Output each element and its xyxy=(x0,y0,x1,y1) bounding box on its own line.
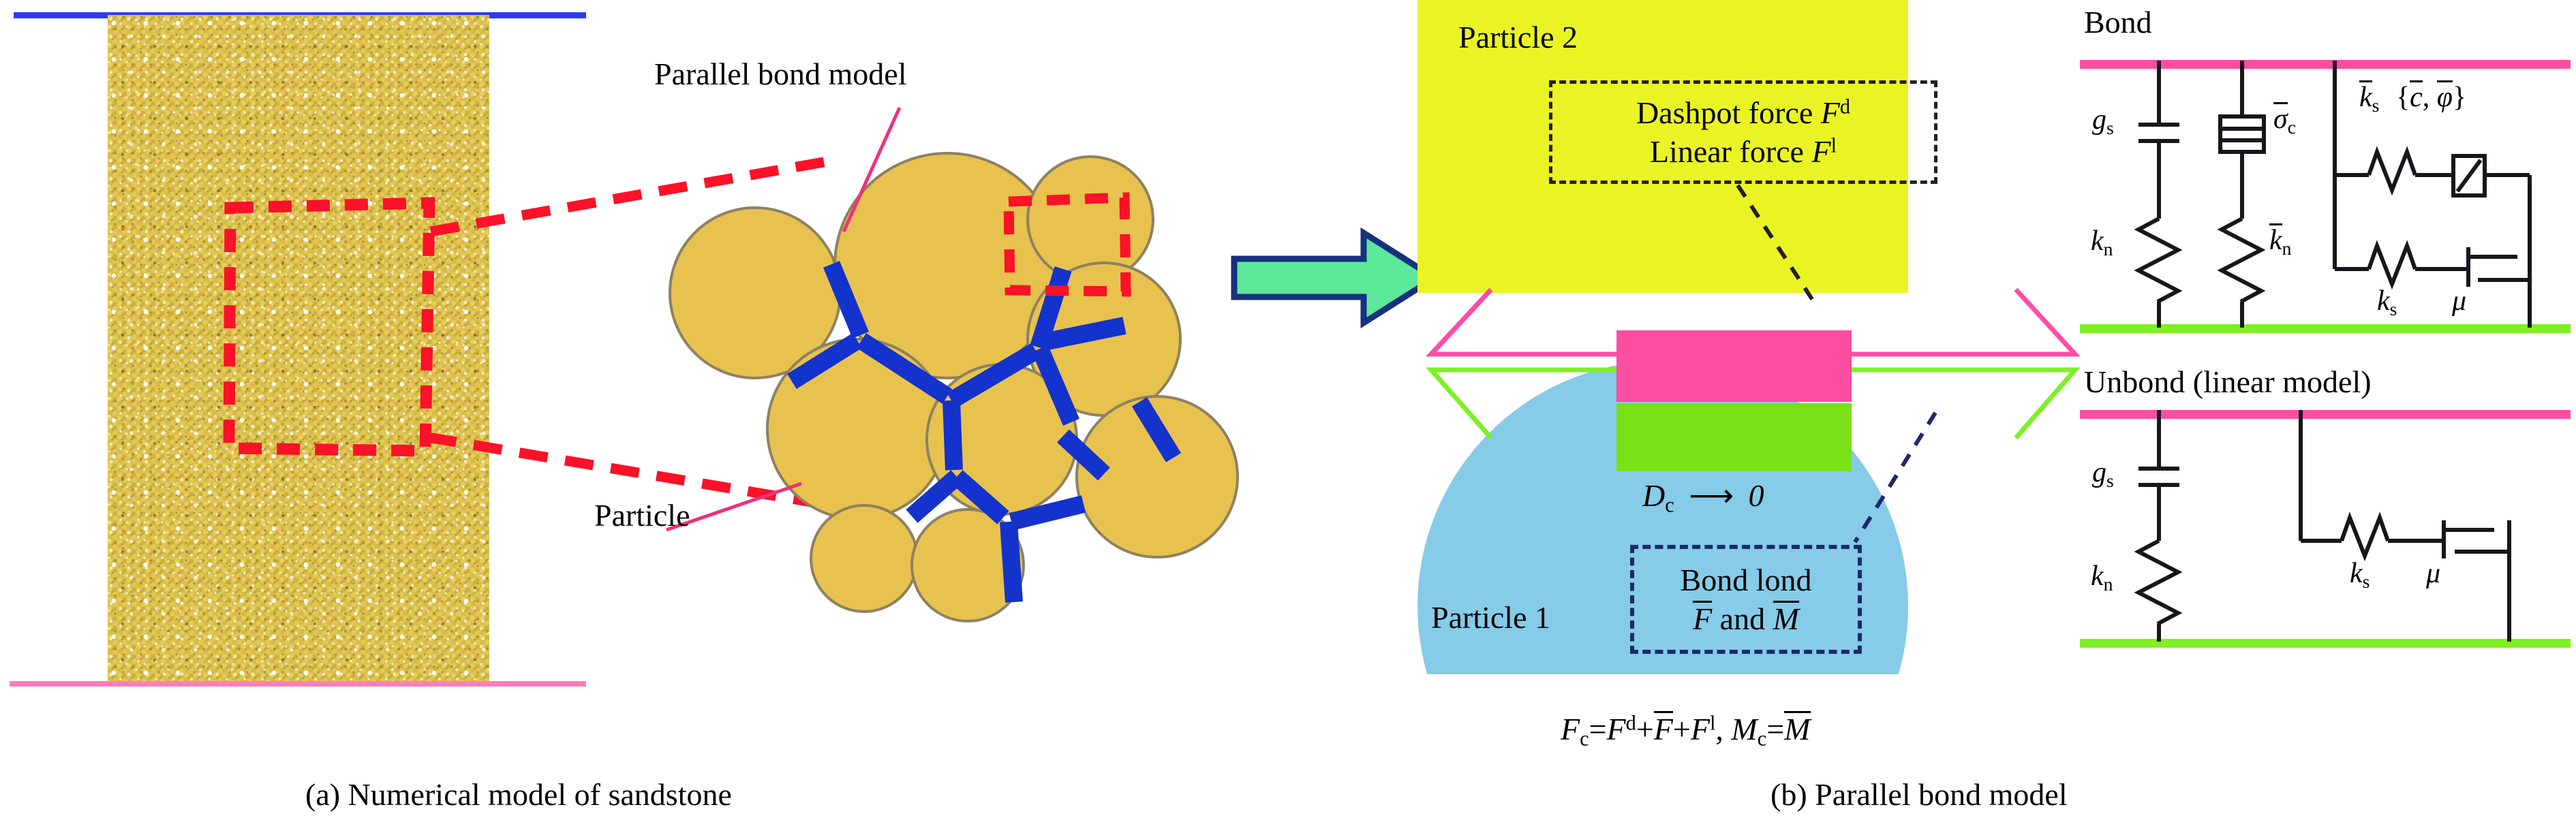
eq-plus-1: + xyxy=(1636,712,1654,746)
ks-bar-symbol: k xyxy=(2359,80,2372,112)
friction-angle-symbol: φ xyxy=(2437,80,2453,112)
bond-mu-label: μ xyxy=(2452,285,2466,317)
eq-fc: F xyxy=(1561,712,1580,746)
bond-sigma-c-label: σc xyxy=(2273,102,2296,138)
unbond-gs-subscript: s xyxy=(2106,470,2114,491)
bond-load-box: Bond lond F and M xyxy=(1630,545,1862,654)
kn-bar-subscript: n xyxy=(2282,238,2292,259)
dashpot-force-text: Dashpot force Fd xyxy=(1636,95,1850,131)
cphi-close-brace: } xyxy=(2453,82,2466,113)
gs-symbol: g xyxy=(2092,104,2106,136)
unbond-kn-symbol: k xyxy=(2091,561,2104,592)
linear-force-text: Linear force Fl xyxy=(1650,133,1837,170)
bond-ks-label: ks xyxy=(2377,285,2397,320)
panel-b-parallel-bond-model: Particle 2 Particle 1 Dashpot force Fd L… xyxy=(1390,0,2113,708)
gap-symbol-subscript: c xyxy=(1665,494,1674,517)
eq-mbar: M xyxy=(1784,711,1810,745)
contact-force-equation: Fc=Fd+F+Fl, Mc=M xyxy=(1561,711,1811,751)
bond-kn-label: kn xyxy=(2091,225,2113,260)
linear-force-prefix: Linear force xyxy=(1650,134,1812,169)
bond-green-band xyxy=(1616,403,1852,471)
linear-force-symbol: F xyxy=(1811,134,1830,169)
bond-panel-title: Bond xyxy=(2084,4,2152,40)
bond-load-conjunction: and xyxy=(1712,601,1773,636)
bond-force-symbol: F xyxy=(1693,601,1712,635)
bond-load-leader-line xyxy=(1840,409,1949,545)
unbond-ks-symbol: k xyxy=(2350,558,2363,589)
bond-ks-bar-cphi-label: ks {c, φ} xyxy=(2359,80,2466,116)
panel-a-caption: (a) Numerical model of sandstone xyxy=(305,776,732,813)
particle-cluster xyxy=(586,41,1199,667)
sigma-c-subscript: c xyxy=(2288,116,2296,138)
eq-mc-sub: c xyxy=(1758,727,1766,751)
gs-subscript: s xyxy=(2106,117,2114,138)
unbond-gs-label: gs xyxy=(2092,456,2114,492)
contact-gap-annotation: Dc ⟶ 0 xyxy=(1642,477,1764,518)
unbond-kn-subscript: n xyxy=(2104,573,2113,595)
dashpot-force-prefix: Dashpot force xyxy=(1636,95,1821,130)
unbond-gs-symbol: g xyxy=(2092,457,2106,488)
unbond-ks-subscript: s xyxy=(2363,571,2370,592)
unbond-panel-title: Unbond (linear model) xyxy=(2084,364,2372,400)
bond-gs-label: gs xyxy=(2092,104,2114,139)
linear-force-superscript: l xyxy=(1831,133,1837,157)
bond-circuit-schematic xyxy=(2072,58,2576,344)
unbond-kn-label: kn xyxy=(2091,560,2113,595)
ks-bar-subscript: s xyxy=(2372,95,2380,116)
eq-plus-2: + xyxy=(1673,712,1691,746)
eq-fd-sup: d xyxy=(1626,711,1636,734)
eq-equals-1: = xyxy=(1589,712,1607,746)
ks-subscript: s xyxy=(2390,298,2397,319)
kn-bar-symbol: k xyxy=(2269,223,2282,255)
bond-load-title: Bond lond xyxy=(1681,562,1812,598)
cohesion-symbol: c xyxy=(2410,80,2423,112)
particle-2-label: Particle 2 xyxy=(1458,19,1578,55)
kn-symbol: k xyxy=(2091,225,2104,257)
unbond-mu-symbol: μ xyxy=(2426,558,2440,589)
mu-symbol: μ xyxy=(2452,285,2466,317)
bond-circuit-panel: Bond xyxy=(2072,0,2576,354)
unbond-circuit-schematic xyxy=(2072,407,2576,652)
bond-label-leader xyxy=(811,102,947,238)
ks-symbol: k xyxy=(2377,285,2390,317)
zoom-region-box[interactable] xyxy=(225,198,443,463)
panel-b-caption: (b) Parallel bond model xyxy=(1770,776,2068,813)
bond-load-symbols: F and M xyxy=(1693,601,1799,637)
unbond-ks-label: ks xyxy=(2350,557,2370,593)
eq-fc-sub: c xyxy=(1580,727,1589,751)
unbond-mu-label: μ xyxy=(2426,557,2440,590)
eq-equals-2: = xyxy=(1766,712,1784,746)
gap-symbol: D xyxy=(1642,478,1665,513)
parallel-bond-model-label: Parallel bond model xyxy=(654,56,906,92)
cphi-open-brace: { xyxy=(2396,82,2410,113)
kn-subscript: n xyxy=(2104,238,2113,259)
eq-fl: F xyxy=(1691,712,1710,746)
dashpot-force-box: Dashpot force Fd Linear force Fl xyxy=(1549,80,1937,184)
dashpot-force-superscript: d xyxy=(1840,95,1850,118)
particle-label: Particle xyxy=(594,497,690,533)
eq-comma: , xyxy=(1715,712,1731,746)
eq-mc: M xyxy=(1731,712,1757,746)
particles xyxy=(670,153,1238,621)
gap-target-value: 0 xyxy=(1749,478,1764,513)
bond-pink-band xyxy=(1616,330,1852,402)
dashpot-force-symbol: F xyxy=(1821,95,1840,130)
particle-1-label: Particle 1 xyxy=(1431,599,1550,635)
cphi-comma: , xyxy=(2423,82,2437,113)
eq-fbar: F xyxy=(1654,711,1673,745)
gap-arrow-icon: ⟶ xyxy=(1682,478,1741,513)
bond-kn-bar-label: kn xyxy=(2269,223,2292,259)
sigma-c-symbol: σ xyxy=(2273,102,2288,133)
bond-moment-symbol: M xyxy=(1773,601,1799,635)
bottom-platen-line xyxy=(10,681,586,687)
unbond-circuit-panel: Unbond (linear model) gs kn ks xyxy=(2072,361,2576,681)
eq-fd: F xyxy=(1607,712,1626,746)
dashpot-leader-line xyxy=(1731,183,1840,312)
